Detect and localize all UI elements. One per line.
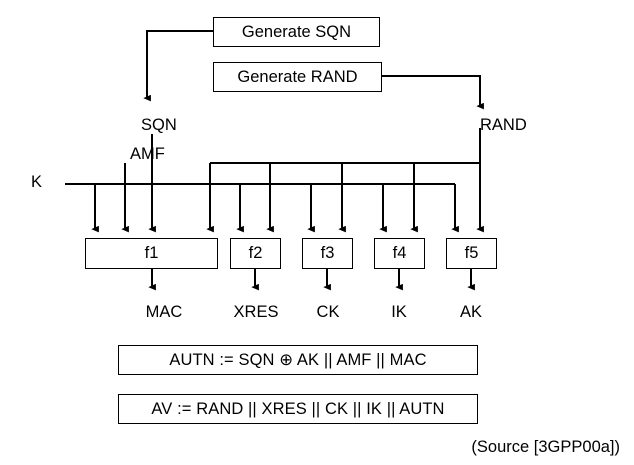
output-label-ik: IK xyxy=(391,303,407,322)
function-box-f3[interactable]: f3 xyxy=(302,238,353,269)
generate-sqn-label: Generate SQN xyxy=(242,23,351,42)
output-label-ck: CK xyxy=(317,303,340,322)
wire-gensqn-to-sqn xyxy=(147,31,213,98)
formula-text-av: AV := RAND || XRES || CK || IK || AUTN xyxy=(151,400,444,419)
diagram-canvas: Generate SQN Generate RAND SQN AMF RAND … xyxy=(0,0,634,465)
formula-box-autn: AUTN := SQN ⊕ AK || AMF || MAC xyxy=(118,345,478,375)
source-citation: (Source [3GPP00a]) xyxy=(471,438,620,457)
function-box-f5[interactable]: f5 xyxy=(446,238,497,269)
signal-label-amf: AMF xyxy=(130,145,165,164)
function-box-f2[interactable]: f2 xyxy=(230,238,281,269)
signal-label-rand: RAND xyxy=(480,116,527,135)
wire-genrand-to-rand xyxy=(382,76,480,106)
formula-text-autn: AUTN := SQN ⊕ AK || AMF || MAC xyxy=(169,350,426,370)
generate-rand-label: Generate RAND xyxy=(237,68,357,87)
function-label-f3: f3 xyxy=(321,244,335,263)
output-label-mac: MAC xyxy=(146,303,183,322)
generate-rand-box[interactable]: Generate RAND xyxy=(213,62,382,92)
generate-sqn-box[interactable]: Generate SQN xyxy=(213,17,380,47)
function-label-f4: f4 xyxy=(393,244,407,263)
signal-label-sqn: SQN xyxy=(141,116,177,135)
function-label-f2: f2 xyxy=(249,244,263,263)
signal-label-k: K xyxy=(31,173,42,192)
formula-box-av: AV := RAND || XRES || CK || IK || AUTN xyxy=(118,394,478,424)
output-label-ak: AK xyxy=(460,303,482,322)
function-label-f5: f5 xyxy=(465,244,479,263)
function-label-f1: f1 xyxy=(145,244,159,263)
function-box-f1[interactable]: f1 xyxy=(85,238,218,269)
function-box-f4[interactable]: f4 xyxy=(374,238,425,269)
output-label-xres: XRES xyxy=(234,303,279,322)
